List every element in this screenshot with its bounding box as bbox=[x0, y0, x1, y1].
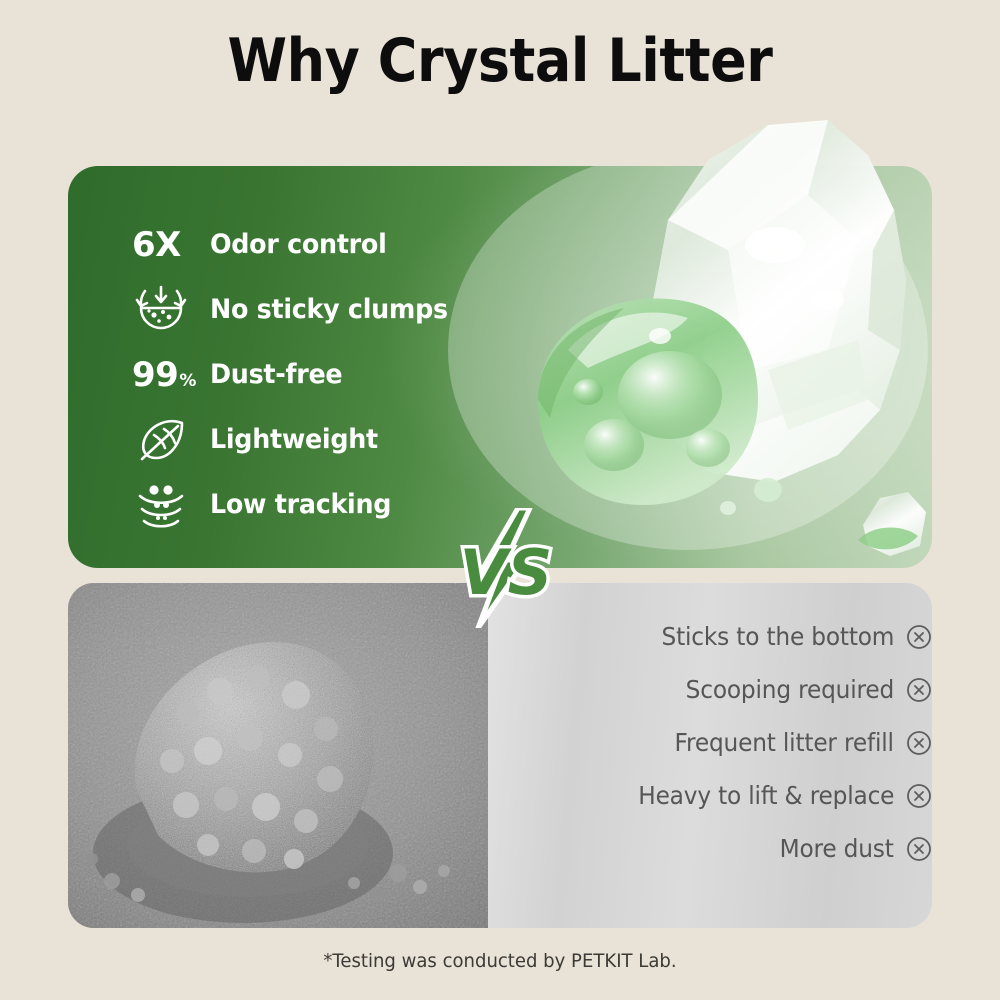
list-item: Scooping required bbox=[492, 663, 932, 716]
con-label: Frequent litter refill bbox=[675, 728, 894, 757]
feather-icon bbox=[132, 411, 210, 469]
feature-label: Odor control bbox=[210, 229, 386, 260]
footer-note: *Testing was conducted by PETKIT Lab. bbox=[25, 950, 975, 972]
pros-feature-list: 6X Odor control bbox=[132, 212, 532, 537]
page-title: Why Crystal Litter bbox=[50, 26, 950, 96]
con-label: More dust bbox=[780, 834, 894, 863]
vs-label: VS bbox=[460, 536, 553, 609]
feature-row: 99 % Dust-free bbox=[132, 342, 532, 407]
cons-list: Sticks to the bottom Scooping required F… bbox=[492, 610, 932, 875]
feature-badge-number: 6X bbox=[132, 228, 181, 262]
con-label: Sticks to the bottom bbox=[661, 622, 894, 651]
feature-label: No sticky clumps bbox=[210, 294, 448, 325]
feature-badge-number: 99 bbox=[132, 358, 178, 392]
circle-x-icon bbox=[906, 730, 932, 756]
circle-x-icon bbox=[906, 783, 932, 809]
circle-x-icon bbox=[906, 624, 932, 650]
clumping-clay-litter-photo bbox=[68, 583, 488, 928]
con-label: Scooping required bbox=[686, 675, 894, 704]
feature-row: Lightweight bbox=[132, 407, 532, 472]
vs-badge: VS bbox=[452, 508, 562, 628]
low-tracking-icon bbox=[132, 476, 210, 534]
feature-label: Dust-free bbox=[210, 359, 342, 390]
list-item: Frequent litter refill bbox=[492, 716, 932, 769]
feature-row: 6X Odor control bbox=[132, 212, 532, 277]
con-label: Heavy to lift & replace bbox=[638, 781, 894, 810]
list-item: More dust bbox=[492, 822, 932, 875]
circle-x-icon bbox=[906, 677, 932, 703]
multiplier-badge: 6X bbox=[132, 228, 210, 262]
feature-label: Lightweight bbox=[210, 424, 378, 455]
percentage-badge: 99 % bbox=[132, 358, 210, 392]
feature-badge-suffix: % bbox=[179, 371, 196, 391]
list-item: Heavy to lift & replace bbox=[492, 769, 932, 822]
circle-x-icon bbox=[906, 836, 932, 862]
no-sticky-clumps-icon bbox=[132, 281, 210, 339]
feature-row: No sticky clumps bbox=[132, 277, 532, 342]
feature-label: Low tracking bbox=[210, 489, 391, 520]
